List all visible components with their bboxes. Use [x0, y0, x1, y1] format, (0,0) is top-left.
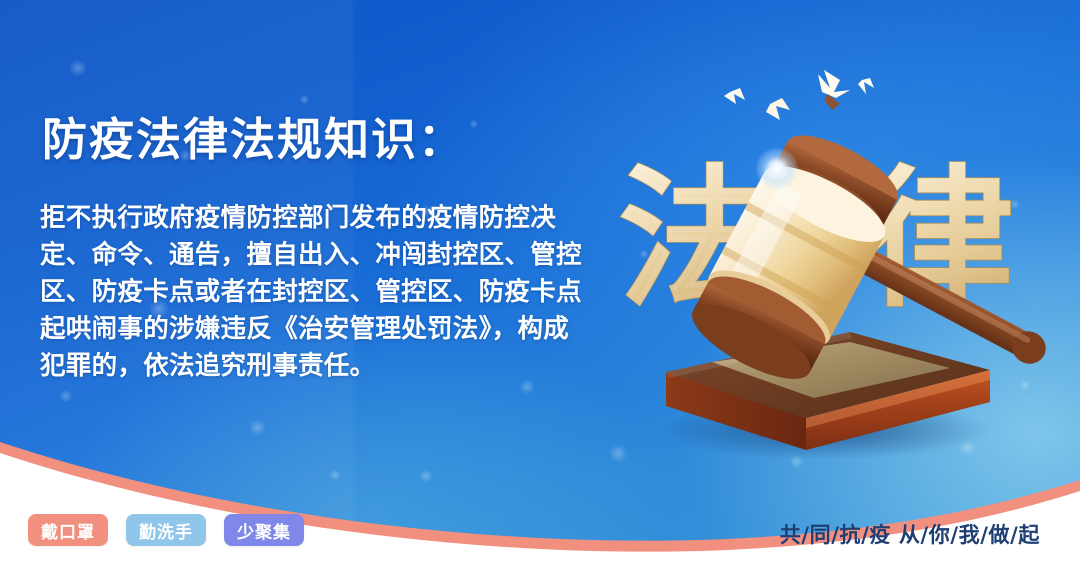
bird-icon	[818, 70, 850, 110]
poster-canvas: 法 法 律	[0, 0, 1080, 584]
body-line: 定、命令、通告，擅自出入、冲闯封控区、管控	[40, 237, 600, 274]
tag-label: 少聚集	[237, 518, 291, 543]
bird-icon	[724, 88, 745, 104]
body-paragraph: 拒不执行政府疫情防控部门发布的疫情防控决 定、命令、通告，擅自出入、冲闯封控区、…	[40, 200, 600, 385]
body-line: 拒不执行政府疫情防控部门发布的疫情防控决	[40, 200, 600, 237]
tag-label: 戴口罩	[41, 518, 95, 543]
tag-label: 勤洗手	[139, 518, 193, 543]
tag-wash-hands[interactable]: 勤洗手	[126, 514, 206, 546]
tag-wear-mask[interactable]: 戴口罩	[28, 514, 108, 546]
bird-icon	[766, 98, 790, 120]
body-line: 犯罪的，依法追究刑事责任。	[40, 348, 600, 385]
prevention-tag-list: 戴口罩 勤洗手 少聚集	[28, 514, 304, 546]
slogan-text: 共/同/抗/疫 从/你/我/做/起	[780, 519, 1040, 549]
page-title: 防疫法律法规知识：	[42, 117, 465, 162]
body-line: 区、防疫卡点或者在封控区、管控区、防疫卡点	[40, 274, 600, 311]
body-line: 起哄闹事的涉嫌违反《治安管理处罚法》，构成	[40, 311, 600, 348]
bird-icon-group	[700, 52, 890, 152]
light-flare-icon	[756, 148, 798, 190]
bottom-wave-divider	[0, 394, 1080, 584]
tag-avoid-gatherings[interactable]: 少聚集	[224, 514, 304, 546]
bird-icon	[858, 78, 874, 94]
